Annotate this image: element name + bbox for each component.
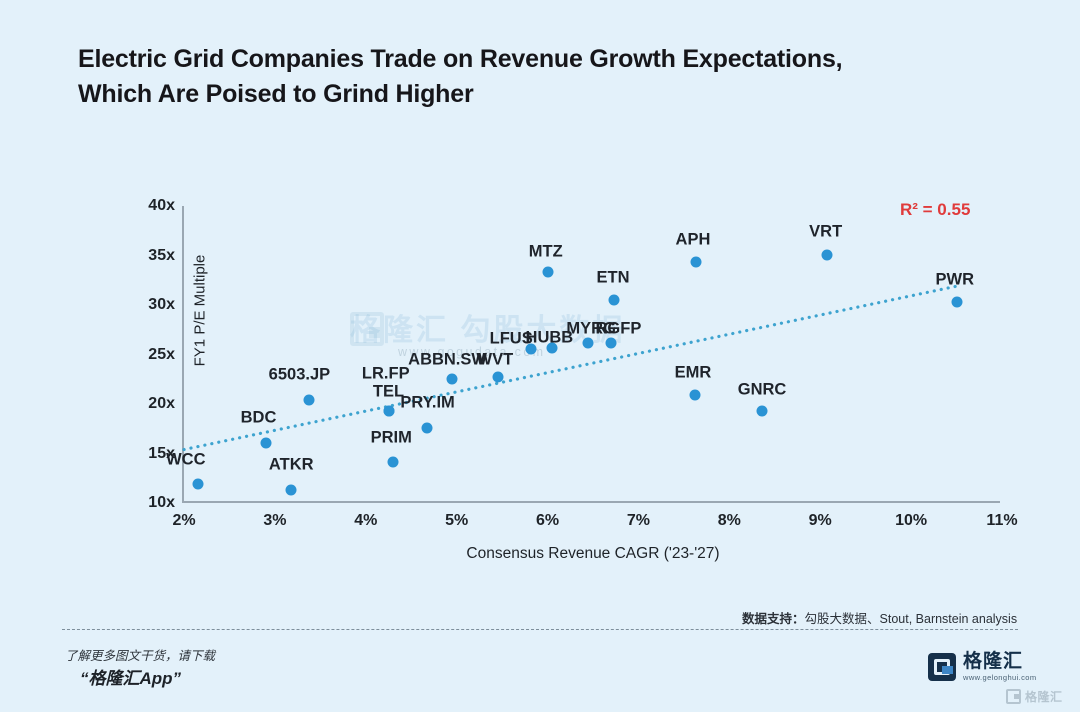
data-point-label: 6503.JP <box>269 366 330 385</box>
data-point[interactable] <box>690 257 701 268</box>
x-tick-label: 7% <box>627 512 650 530</box>
footer-promo-line-1: 了解更多图文干货，请下载 <box>65 645 215 664</box>
x-tick-label: 4% <box>354 512 377 530</box>
data-point-label: LR.FP <box>362 365 410 384</box>
x-tick-label: 11% <box>986 512 1017 530</box>
data-point[interactable] <box>421 422 432 433</box>
data-point-label: ETN <box>596 269 629 288</box>
data-point[interactable] <box>757 405 768 416</box>
data-point[interactable] <box>689 390 700 401</box>
brand-name-small: 格隆汇 <box>1025 688 1063 705</box>
data-point[interactable] <box>303 395 314 406</box>
y-tick-label: 25x <box>148 346 175 364</box>
source-prefix: 数据支持： <box>742 612 805 626</box>
y-tick-label: 35x <box>148 247 175 265</box>
data-point[interactable] <box>383 405 394 416</box>
data-point-label: GNRC <box>738 381 787 400</box>
brand-logo-small: 格隆汇 <box>1006 688 1063 705</box>
data-point[interactable] <box>192 479 203 490</box>
data-point[interactable] <box>286 485 297 496</box>
x-tick-label: 3% <box>263 512 286 530</box>
page-title: Electric Grid Companies Trade on Revenue… <box>78 42 978 111</box>
x-tick-label: 9% <box>809 512 832 530</box>
title-line-1: Electric Grid Companies Trade on Revenue… <box>78 45 842 73</box>
scatter-plot-area: FY1 P/E Multiple 10x15x20x25x30x35x40x 2… <box>182 206 1000 503</box>
data-point-label: VRT <box>809 222 842 241</box>
data-point[interactable] <box>260 437 271 448</box>
x-tick-label: 8% <box>718 512 741 530</box>
r-squared-annotation: R² = 0.55 <box>900 200 970 220</box>
brand-g-icon-small <box>1006 689 1021 704</box>
source-text: 勾股大数据、Stout, Barnstein analysis <box>805 612 1018 626</box>
data-point-label: MTZ <box>529 242 563 261</box>
data-point[interactable] <box>447 374 458 385</box>
data-point-label: BDC <box>241 408 277 427</box>
data-point[interactable] <box>583 337 594 348</box>
data-point-label: APH <box>676 230 711 249</box>
data-point-label: PRY.IM <box>400 394 454 413</box>
brand-logo[interactable]: 格隆汇 www.gelonghui.com <box>928 652 1037 682</box>
y-tick-label: 40x <box>148 197 175 215</box>
brand-url: www.gelonghui.com <box>963 674 1037 682</box>
data-point-label: RGFP <box>596 319 642 338</box>
brand-name: 格隆汇 <box>963 652 1037 671</box>
data-point-label: ATKR <box>269 456 314 475</box>
data-point[interactable] <box>606 337 617 348</box>
data-point[interactable] <box>608 295 619 306</box>
data-point[interactable] <box>388 457 399 468</box>
y-tick-label: 10x <box>148 494 175 512</box>
x-tick-label: 2% <box>172 512 195 530</box>
data-point-label: WVT <box>476 351 513 370</box>
data-point[interactable] <box>492 372 503 383</box>
data-point-label: PRIM <box>371 428 412 447</box>
source-note: 数据支持：勾股大数据、Stout, Barnstein analysis <box>742 608 1017 627</box>
title-line-2: Which Are Poised to Grind Higher <box>78 77 978 112</box>
data-point-label: WCC <box>166 451 205 470</box>
brand-g-icon <box>928 653 956 681</box>
y-tick-label: 20x <box>148 395 175 413</box>
footer-app-name: “格隆汇App” <box>80 664 181 689</box>
y-tick-label: 30x <box>148 296 175 314</box>
data-point[interactable] <box>542 267 553 278</box>
x-tick-label: 6% <box>536 512 559 530</box>
data-point-label: EMR <box>675 364 712 383</box>
data-point-label: ABBN.SW <box>408 351 487 370</box>
x-tick-label: 10% <box>895 512 927 530</box>
x-axis-label: Consensus Revenue CAGR ('23-'27) <box>184 545 1002 563</box>
data-point-label: PWR <box>935 271 974 290</box>
data-point[interactable] <box>822 249 833 260</box>
footer-divider <box>62 629 1018 630</box>
slide-canvas: Electric Grid Companies Trade on Revenue… <box>0 0 1080 712</box>
x-tick-label: 5% <box>445 512 468 530</box>
data-point[interactable] <box>951 297 962 308</box>
